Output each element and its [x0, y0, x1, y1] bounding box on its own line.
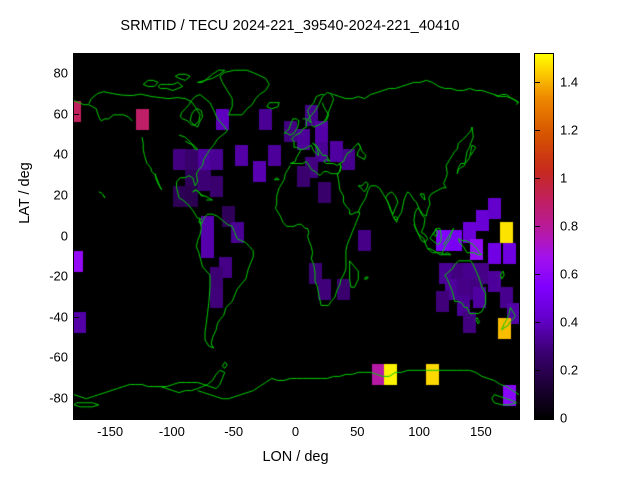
y-axis-tick-mark — [73, 317, 79, 318]
colorbar-gradient — [535, 54, 553, 419]
map-plot-area[interactable] — [73, 53, 520, 420]
x-axis-tick-mark — [110, 412, 111, 418]
y-axis-tick-label: -40 — [12, 309, 68, 324]
colorbar-tick-mark — [534, 322, 540, 323]
colorbar-tick-label: 0.2 — [560, 362, 578, 377]
x-axis-tick-mark — [481, 412, 482, 418]
colorbar-tick-mark — [534, 82, 540, 83]
colorbar-tick-label: 0.8 — [560, 218, 578, 233]
colorbar-tick-mark — [534, 418, 540, 419]
y-axis-tick-mark — [73, 398, 79, 399]
x-axis-tick-label: 100 — [389, 424, 449, 439]
x-axis-tick-mark — [419, 412, 420, 418]
y-axis-tick-mark — [73, 195, 79, 196]
colorbar-tick-mark — [534, 130, 540, 131]
colorbar-tick-mark — [534, 178, 540, 179]
colorbar[interactable] — [534, 53, 554, 420]
y-axis-tick-mark — [73, 236, 79, 237]
heatmap-canvas — [74, 54, 519, 419]
x-axis-tick-mark — [357, 412, 358, 418]
colorbar-tick-label: 1.4 — [560, 74, 578, 89]
colorbar-tick-label: 1.2 — [560, 122, 578, 137]
y-axis-tick-mark — [73, 114, 79, 115]
page-title: SRMTID / TECU 2024-221_39540-2024-221_40… — [0, 18, 580, 34]
colorbar-tick-label: 0.6 — [560, 266, 578, 281]
colorbar-tick-mark — [534, 274, 540, 275]
x-axis-tick-label: 50 — [327, 424, 387, 439]
y-axis-tick-mark — [73, 276, 79, 277]
x-axis-tick-label: -100 — [142, 424, 202, 439]
y-axis-tick-label: -20 — [12, 269, 68, 284]
x-axis-tick-label: 150 — [451, 424, 511, 439]
y-axis-tick-label: 80 — [12, 66, 68, 81]
x-axis-tick-mark — [296, 412, 297, 418]
x-axis-tick-mark — [234, 412, 235, 418]
y-axis-tick-label: -80 — [12, 390, 68, 405]
y-axis-tick-label: -60 — [12, 350, 68, 365]
colorbar-tick-mark — [534, 226, 540, 227]
y-axis-label: LAT / deg — [17, 133, 33, 253]
colorbar-tick-label: 0.4 — [560, 314, 578, 329]
x-axis-tick-mark — [172, 412, 173, 418]
y-axis-tick-mark — [73, 154, 79, 155]
x-axis-tick-label: -150 — [80, 424, 140, 439]
figure-canvas: SRMTID / TECU 2024-221_39540-2024-221_40… — [0, 0, 640, 480]
y-axis-tick-mark — [73, 357, 79, 358]
x-axis-tick-label: 0 — [266, 424, 326, 439]
colorbar-tick-mark — [534, 370, 540, 371]
x-axis-tick-label: -50 — [204, 424, 264, 439]
x-axis-label: LON / deg — [73, 449, 518, 465]
y-axis-tick-mark — [73, 73, 79, 74]
colorbar-tick-label: 0 — [560, 411, 567, 426]
colorbar-tick-label: 1 — [560, 170, 567, 185]
y-axis-tick-label: 60 — [12, 106, 68, 121]
